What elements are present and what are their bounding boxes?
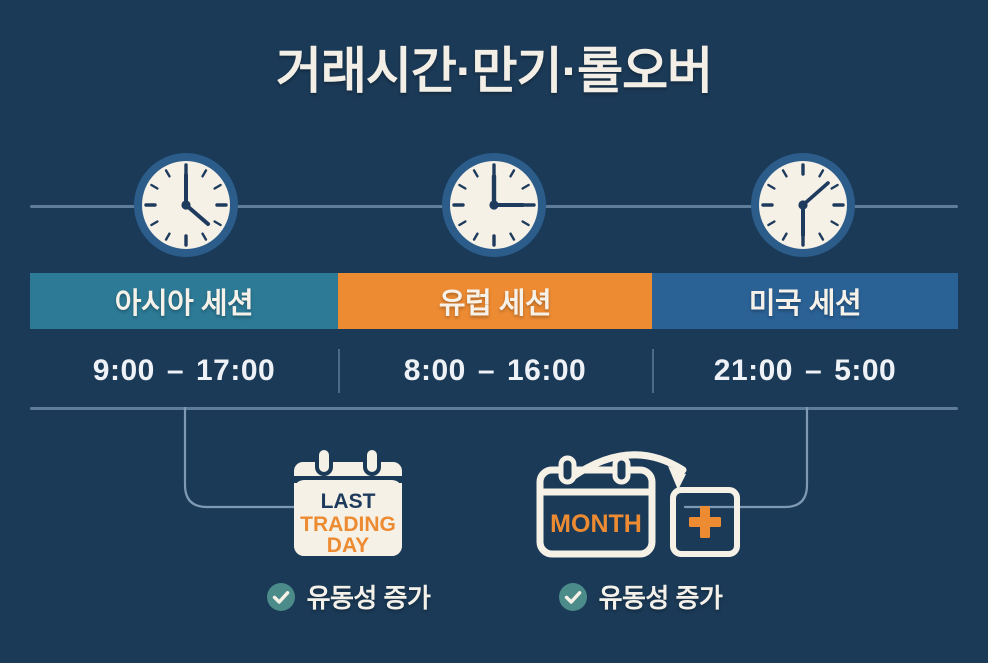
calendar-line-2: TRADING xyxy=(300,513,396,536)
us-start-time: 21:00 xyxy=(714,354,793,388)
session-block-us[interactable]: 미국 세션 xyxy=(652,273,958,329)
last-trading-day-caption-text: 유동성 증가 xyxy=(307,578,431,615)
last-trading-day-group: LAST TRADING DAY 유동성 증가 xyxy=(232,440,464,615)
session-block-asia[interactable]: 아시아 세션 xyxy=(30,273,338,329)
calendar-rollover-month-icon: MONTH xyxy=(505,440,775,558)
session-block-europe[interactable]: 유럽 세션 xyxy=(338,273,652,329)
asia-end-time: 17:00 xyxy=(196,354,275,388)
europe-time-dash: – xyxy=(478,354,495,388)
us-clock-icon xyxy=(748,150,858,260)
page-title: 거래시간·만기·롤오버 xyxy=(0,44,988,99)
rollover-month-caption: 유동성 증가 xyxy=(505,578,775,615)
calendar-line-1: LAST xyxy=(321,490,376,513)
asia-clock-icon xyxy=(131,150,241,260)
last-trading-day-caption: 유동성 증가 xyxy=(232,578,464,615)
europe-end-time: 16:00 xyxy=(507,354,586,388)
session-hours-asia: 9:00 – 17:00 xyxy=(30,345,338,397)
rollover-month-group: MONTH 유동성 증가 xyxy=(505,440,775,615)
us-time-dash: – xyxy=(805,354,822,388)
session-hours-row: 9:00 – 17:00 8:00 – 16:00 21:00 – 5:00 xyxy=(30,345,958,397)
calendar-month-label: MONTH xyxy=(550,510,642,538)
asia-start-time: 9:00 xyxy=(93,354,155,388)
session-label-us: 미국 세션 xyxy=(749,280,861,322)
us-end-time: 5:00 xyxy=(834,354,896,388)
europe-clock-icon xyxy=(439,150,549,260)
check-circle-icon xyxy=(266,582,296,612)
session-hours-europe: 8:00 – 16:00 xyxy=(338,345,652,397)
europe-start-time: 8:00 xyxy=(404,354,466,388)
session-label-asia: 아시아 세션 xyxy=(115,280,253,322)
calendar-line-3: DAY xyxy=(327,534,369,557)
session-bar: 아시아 세션 유럽 세션 미국 세션 xyxy=(30,273,958,329)
infographic-root: 거래시간·만기·롤오버 xyxy=(0,0,988,663)
session-label-europe: 유럽 세션 xyxy=(439,280,551,322)
mid-rail-divider xyxy=(30,407,958,410)
plus-icon xyxy=(689,506,721,538)
rollover-month-caption-text: 유동성 증가 xyxy=(599,578,723,615)
check-circle-icon xyxy=(558,582,588,612)
asia-time-dash: – xyxy=(167,354,184,388)
session-hours-us: 21:00 – 5:00 xyxy=(652,345,958,397)
calendar-last-trading-day-icon: LAST TRADING DAY xyxy=(232,440,464,558)
